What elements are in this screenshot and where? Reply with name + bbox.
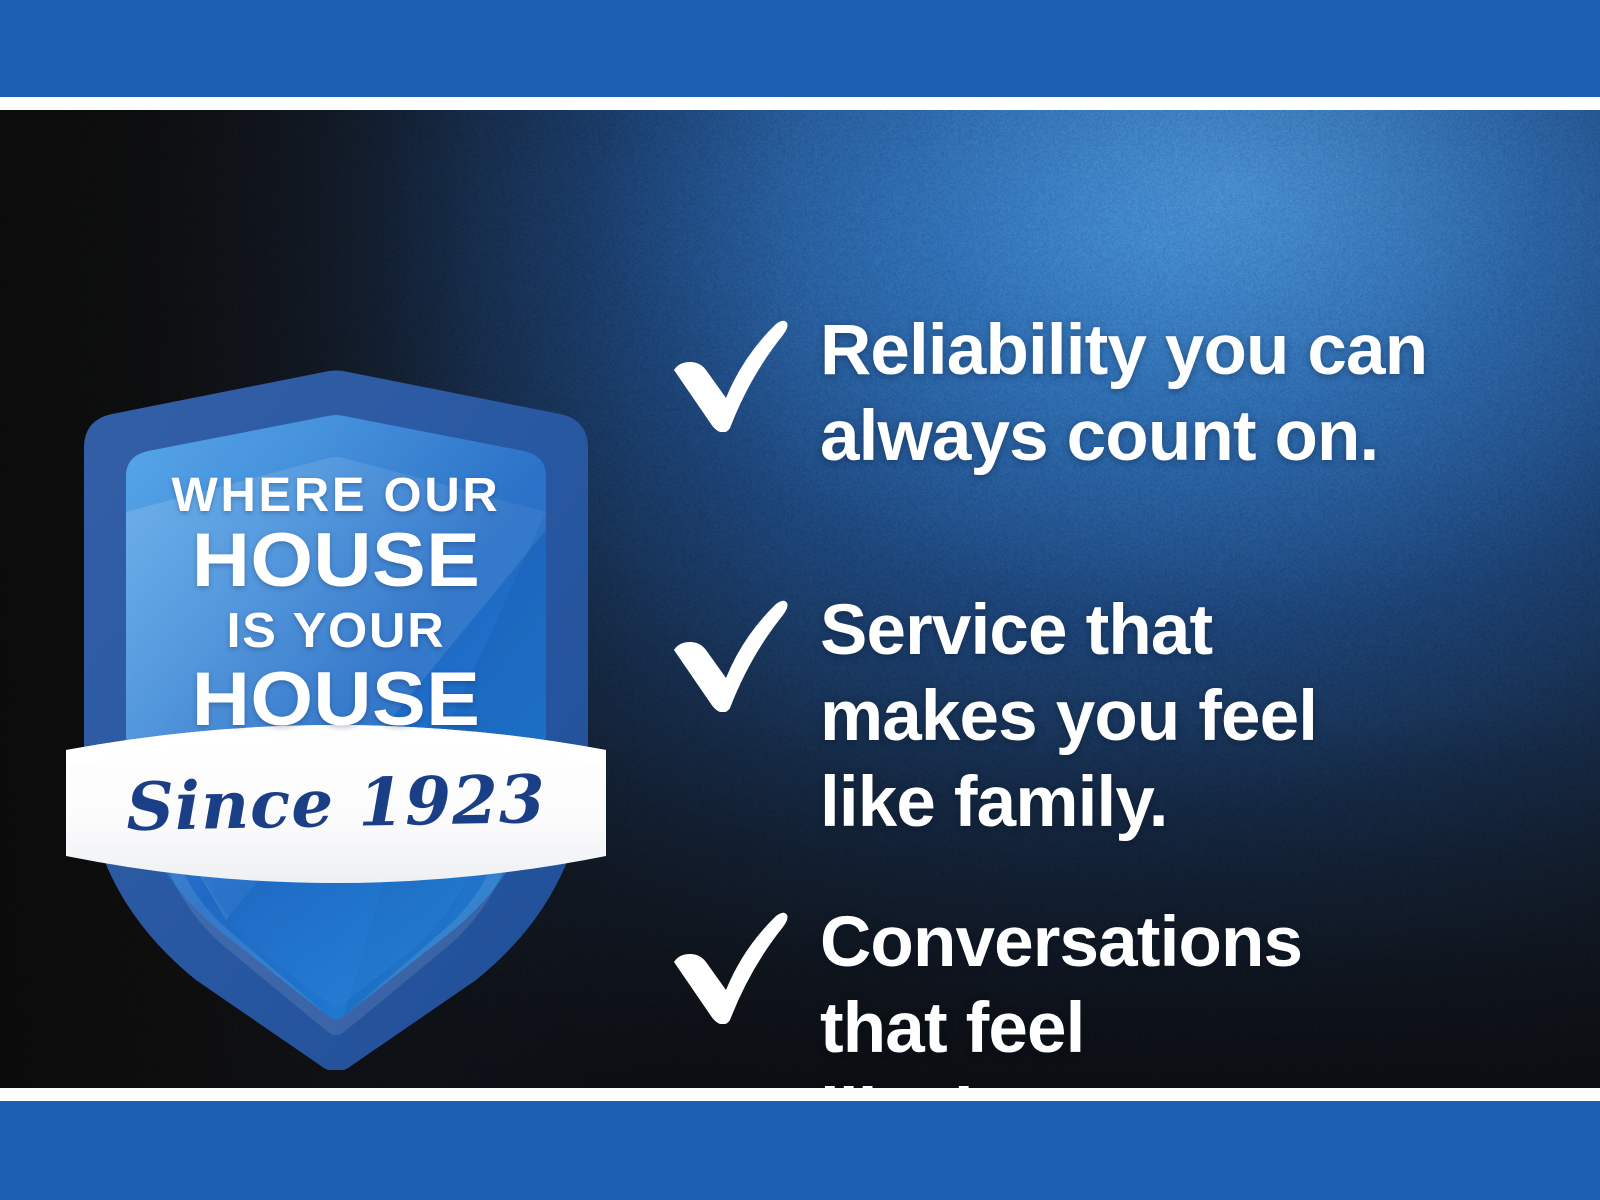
benefit-text: Reliability you can always count on.: [820, 306, 1427, 480]
main-panel: WHERE OUR HOUSE IS YOUR HOUSE Since 1923…: [0, 110, 1600, 1088]
check-icon: [668, 312, 788, 432]
benefit-item: Conversations that feel like home.: [668, 898, 1302, 1088]
bottom-divider: [0, 1088, 1600, 1101]
check-icon: [668, 592, 788, 712]
shield-logo: WHERE OUR HOUSE IS YOUR HOUSE Since 1923: [66, 280, 606, 1070]
top-brand-bar: [0, 0, 1600, 97]
benefit-text: Conversations that feel like home.: [820, 898, 1302, 1088]
check-icon: [668, 904, 788, 1024]
promotional-graphic: WHERE OUR HOUSE IS YOUR HOUSE Since 1923…: [0, 0, 1600, 1200]
bottom-brand-bar: [0, 1101, 1600, 1200]
benefit-item: Reliability you can always count on.: [668, 306, 1427, 480]
benefit-text: Service that makes you feel like family.: [820, 586, 1317, 846]
top-divider: [0, 97, 1600, 110]
benefit-item: Service that makes you feel like family.: [668, 586, 1317, 846]
